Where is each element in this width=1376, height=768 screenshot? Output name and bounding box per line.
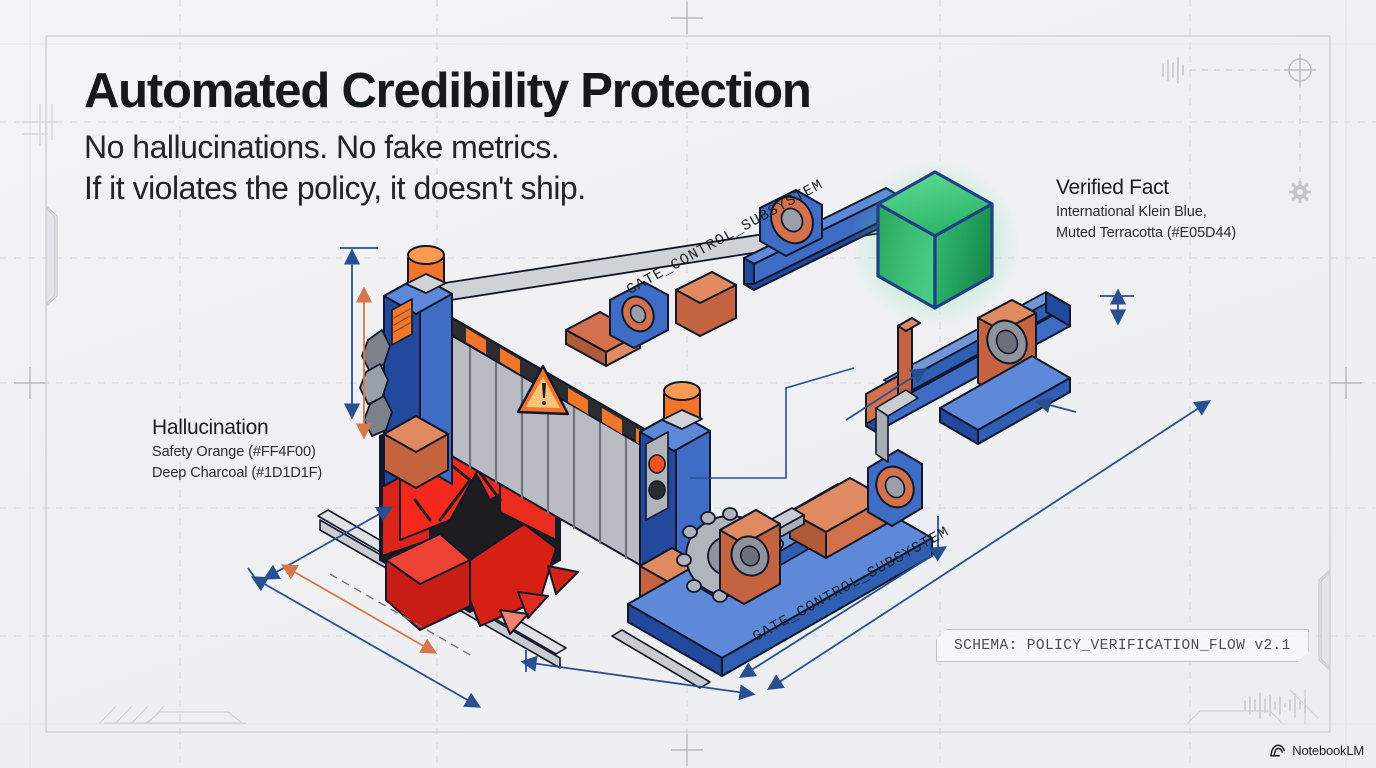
notebooklm-label: NotebookLM bbox=[1292, 743, 1364, 758]
callout-hallucination-title: Hallucination bbox=[152, 416, 322, 440]
callout-verified-line-2: Muted Terracotta (#E05D44) bbox=[1056, 223, 1236, 244]
callout-verified-line-1: International Klein Blue, bbox=[1056, 202, 1236, 223]
notebooklm-watermark: NotebookLM bbox=[1270, 743, 1364, 758]
subtitle-line-1: No hallucinations. No fake metrics. bbox=[84, 127, 864, 168]
page-subtitle: No hallucinations. No fake metrics. If i… bbox=[84, 127, 864, 209]
callout-verified-fact: Verified Fact International Klein Blue, … bbox=[1056, 176, 1236, 243]
subtitle-line-2: If it violates the policy, it doesn't sh… bbox=[84, 168, 864, 209]
illustration-canvas: Automated Credibility Protection No hall… bbox=[0, 0, 1376, 768]
schema-badge: SCHEMA: POLICY_VERIFICATION_FLOW v2.1 bbox=[936, 629, 1309, 662]
title-block: Automated Credibility Protection No hall… bbox=[84, 66, 864, 209]
callout-hallucination-line-1: Safety Orange (#FF4F00) bbox=[152, 442, 322, 463]
page-title: Automated Credibility Protection bbox=[84, 66, 864, 117]
callout-hallucination: Hallucination Safety Orange (#FF4F00) De… bbox=[152, 416, 322, 483]
callout-hallucination-line-2: Deep Charcoal (#1D1D1F) bbox=[152, 463, 322, 484]
callout-verified-title: Verified Fact bbox=[1056, 176, 1236, 200]
notebooklm-logo-icon bbox=[1270, 744, 1286, 757]
